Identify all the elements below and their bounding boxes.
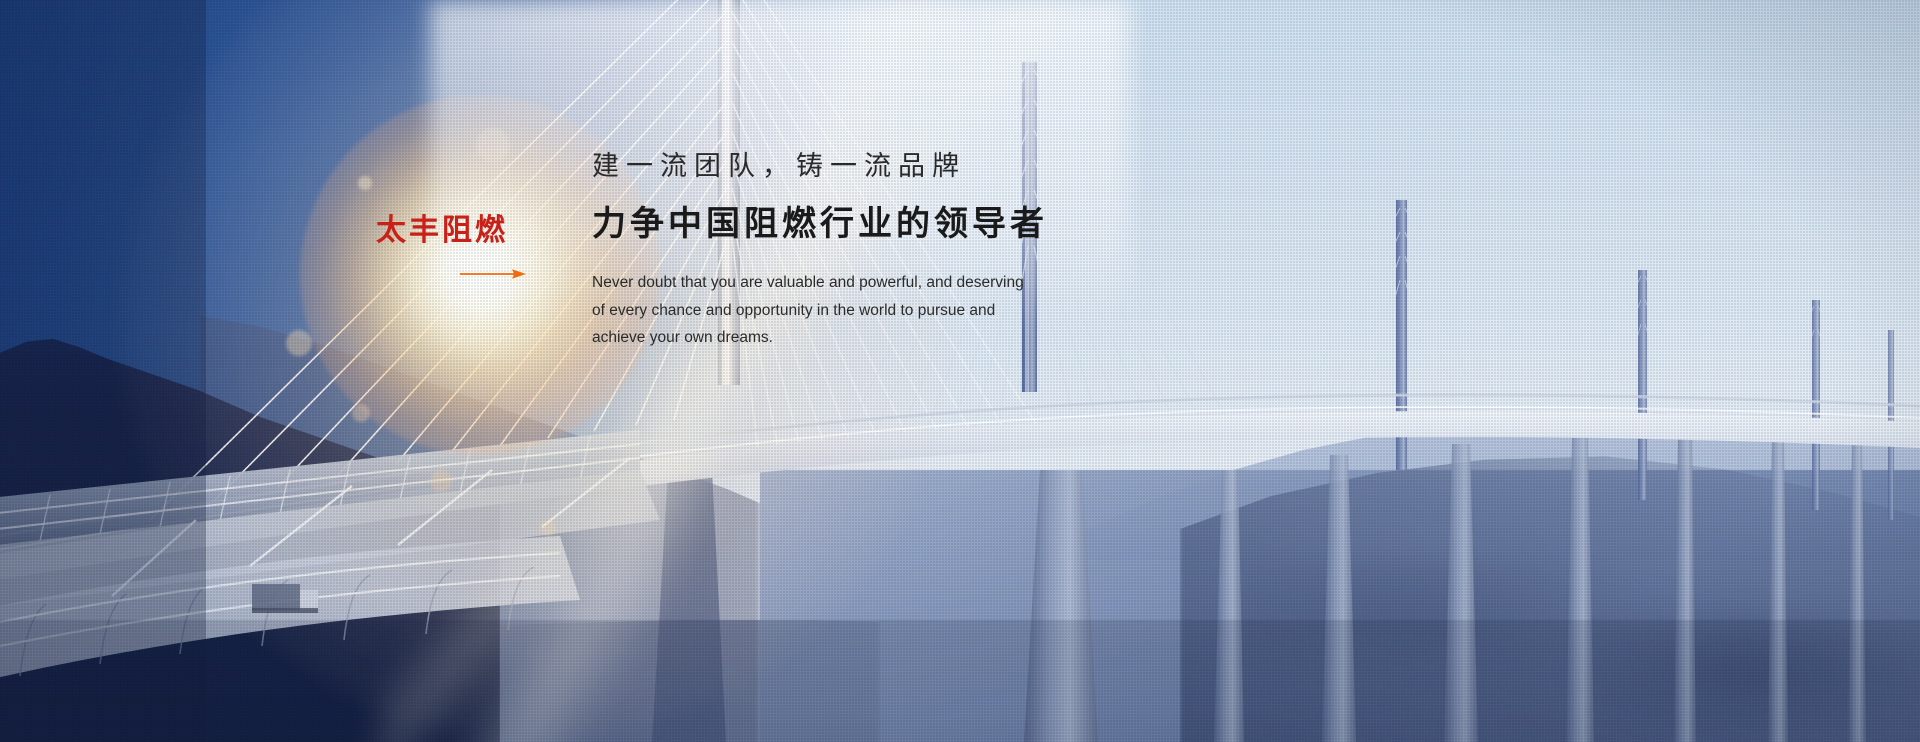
brand-logo-text: 太丰阻燃 bbox=[376, 216, 546, 246]
banner-content: 太丰阻燃 建一流团队，铸一流品牌 力争中国阻燃行业的领导者 Never doub… bbox=[0, 0, 1920, 742]
subcopy-line-3: achieve your own dreams. bbox=[592, 324, 1062, 352]
subcopy-line-2: of every chance and opportunity in the w… bbox=[592, 297, 1062, 325]
hero-banner: 太丰阻燃 建一流团队，铸一流品牌 力争中国阻燃行业的领导者 Never doub… bbox=[0, 0, 1920, 742]
headline-secondary: 力争中国阻燃行业的领导者 bbox=[592, 206, 1062, 243]
headline-group: 建一流团队，铸一流品牌 力争中国阻燃行业的领导者 Never doubt tha… bbox=[592, 152, 1062, 352]
arrow-right-icon bbox=[460, 268, 526, 280]
headline-primary: 建一流团队，铸一流品牌 bbox=[592, 152, 1062, 182]
brand-logo[interactable]: 太丰阻燃 bbox=[376, 216, 546, 280]
subcopy-paragraph: Never doubt that you are valuable and po… bbox=[592, 269, 1062, 352]
subcopy-line-1: Never doubt that you are valuable and po… bbox=[592, 269, 1062, 297]
